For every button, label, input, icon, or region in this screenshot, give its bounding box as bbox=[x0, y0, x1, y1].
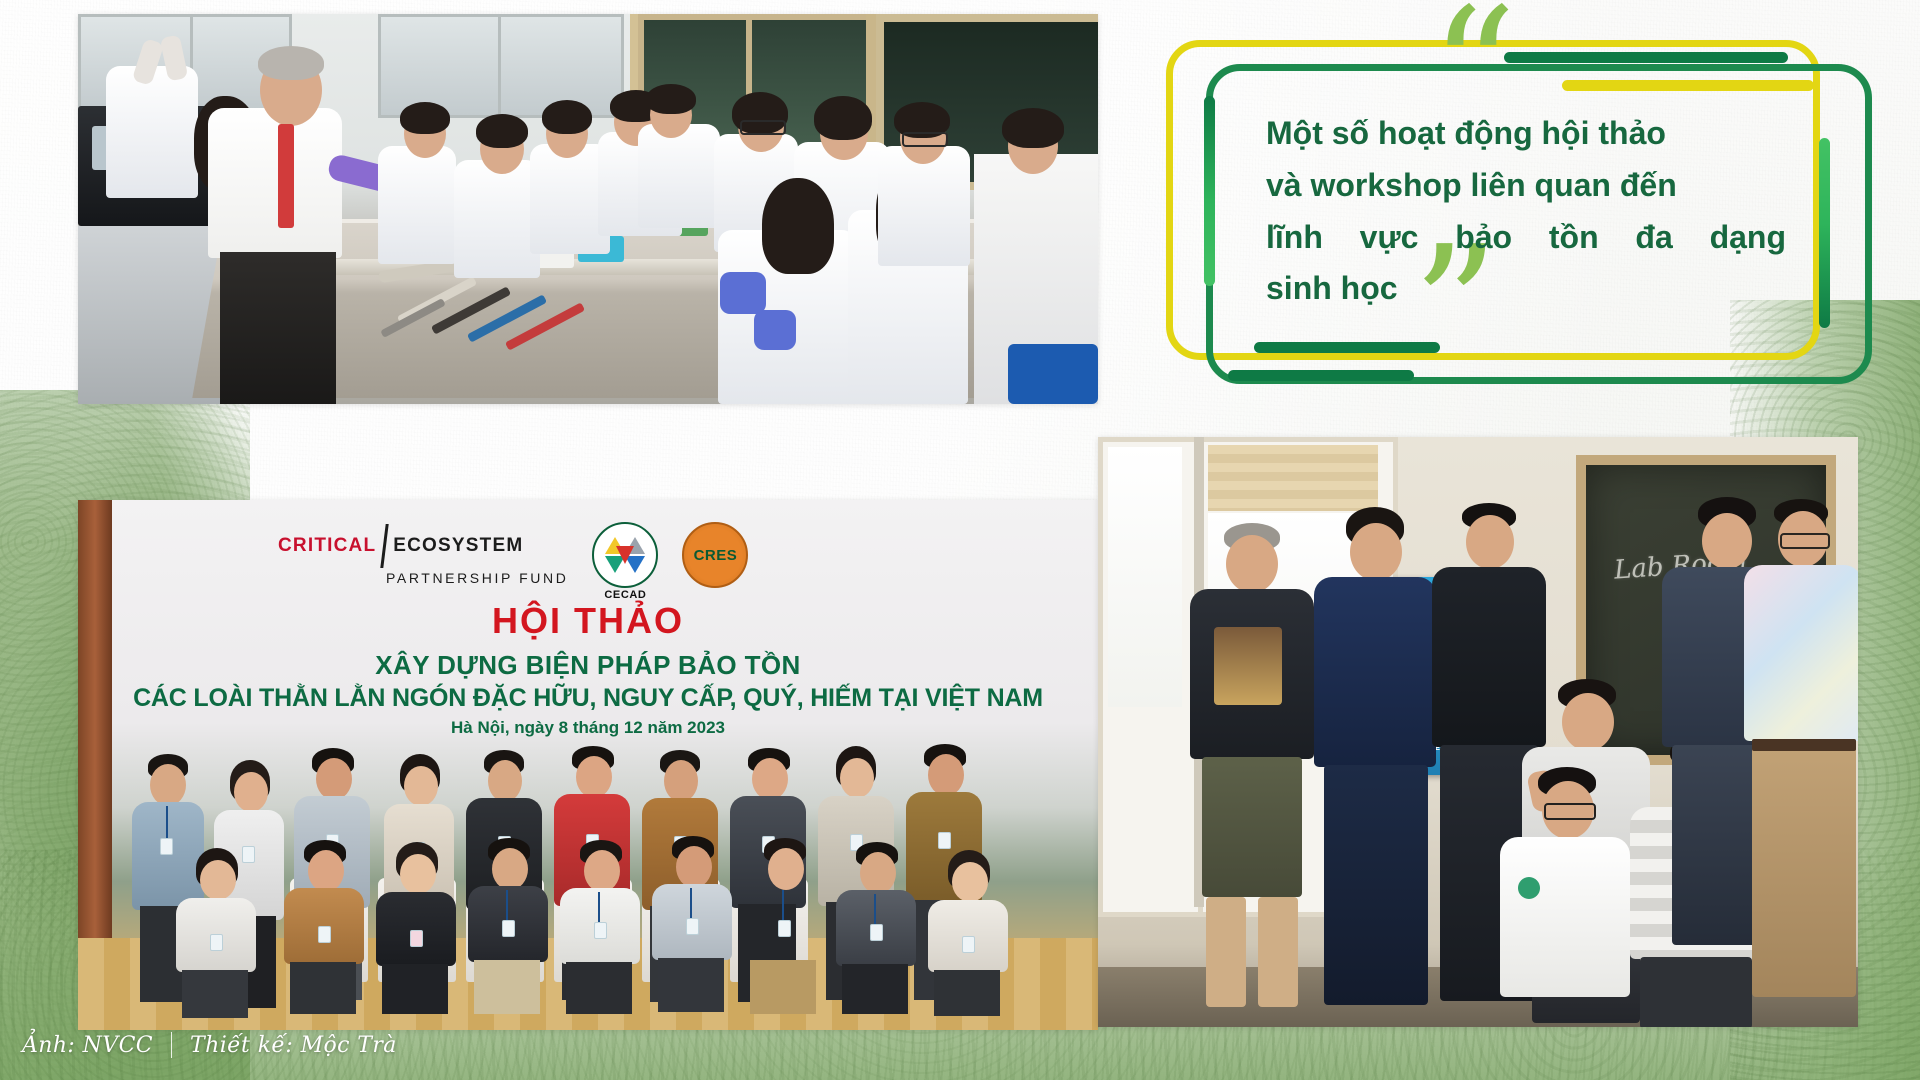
banner-logo-row: CRITICALECOSYSTEM PARTNERSHIP FUND CECAD… bbox=[278, 518, 838, 592]
quote-card: “ ” Một số hoạt động hội thảo và worksho… bbox=[1150, 12, 1880, 392]
quote-dash-green-top bbox=[1504, 52, 1788, 63]
person-8 bbox=[1744, 499, 1858, 1019]
page-canvas: CRITICALECOSYSTEM PARTNERSHIP FUND CECAD… bbox=[0, 0, 1920, 1080]
conference-crowd bbox=[78, 730, 1098, 1030]
design-credit: Thiết kế: Mộc Trà bbox=[190, 1033, 397, 1058]
quote-dash-green-bottom-2 bbox=[1228, 370, 1414, 381]
quote-text: Một số hoạt động hội thảo và workshop li… bbox=[1266, 108, 1786, 315]
cecad-logo: CECAD bbox=[592, 522, 658, 588]
cepf-ecosystem-text: ECOSYSTEM bbox=[393, 535, 523, 556]
cres-label: CRES bbox=[694, 547, 738, 564]
banner-subtitle-2: CÁC LOÀI THẰN LẰN NGÓN ĐẶC HỮU, NGUY CẤP… bbox=[78, 684, 1098, 713]
person-2 bbox=[1312, 507, 1440, 1019]
quote-accent-bar-left bbox=[1204, 96, 1215, 286]
banner-title: HỘI THẢO bbox=[78, 600, 1098, 642]
cepf-partnership-text: PARTNERSHIP FUND bbox=[278, 571, 568, 586]
cepf-critical-text: CRITICAL bbox=[278, 535, 376, 556]
caption-divider bbox=[171, 1032, 172, 1058]
quote-accent-bar-right bbox=[1819, 138, 1830, 328]
cres-logo: CRES bbox=[682, 522, 748, 588]
quote-line-2: và workshop liên quan đến bbox=[1266, 160, 1786, 212]
quote-dash-yellow-top bbox=[1562, 80, 1814, 91]
cepf-logo: CRITICALECOSYSTEM PARTNERSHIP FUND bbox=[278, 524, 568, 586]
person-5 bbox=[1494, 767, 1634, 1027]
quote-line-1: Một số hoạt động hội thảo bbox=[1266, 108, 1786, 160]
caption-bar: Ảnh: NVCC Thiết kế: Mộc Trà bbox=[22, 1032, 397, 1058]
banner-subtitle-1: XÂY DỰNG BIỆN PHÁP BẢO TỒN bbox=[78, 650, 1098, 681]
person-1 bbox=[1184, 523, 1320, 1021]
quote-line-4: sinh học bbox=[1266, 263, 1786, 315]
photo-lab-training bbox=[78, 14, 1098, 404]
photo-credit: Ảnh: NVCC bbox=[22, 1033, 153, 1058]
photo-workshop-group: Lab Room Faculty of Biology, VNU Univers… bbox=[1098, 437, 1858, 1027]
quote-line-3: lĩnh vực bảo tồn đa dạng bbox=[1266, 212, 1786, 264]
photo-conference-group: CRITICALECOSYSTEM PARTNERSHIP FUND CECAD… bbox=[78, 500, 1098, 1030]
